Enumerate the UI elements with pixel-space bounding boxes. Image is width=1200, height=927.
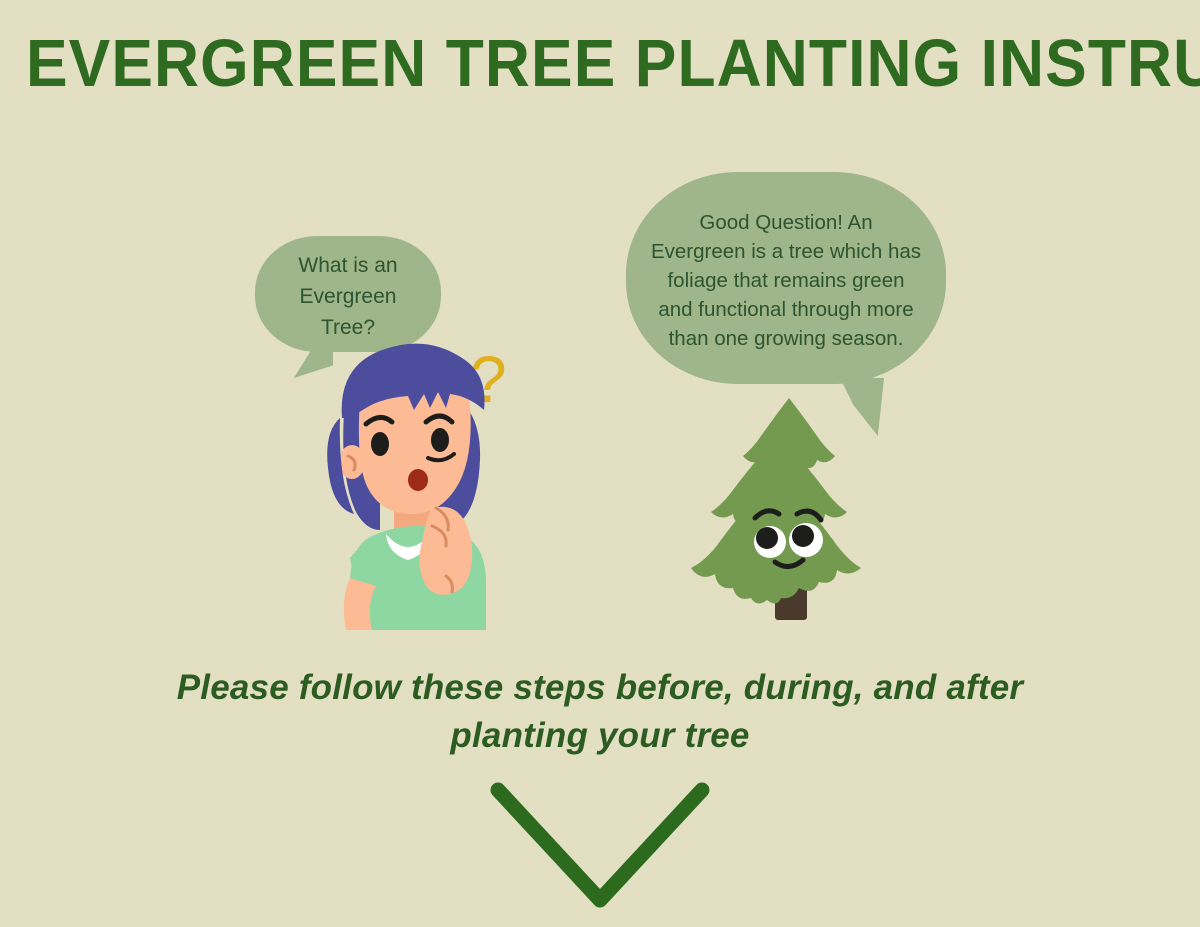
answer-line-4: and functional through more bbox=[651, 295, 921, 324]
subheading-line-2: planting your tree bbox=[450, 716, 749, 755]
page-title: EVERGREEN TREE PLANTING INSTRUCTIONS: bbox=[26, 26, 1068, 102]
speech-bubble-question-text: What is an Evergreen Tree? bbox=[298, 250, 397, 343]
question-line-3: Tree? bbox=[298, 312, 397, 343]
evergreen-tree-illustration bbox=[685, 390, 895, 630]
answer-line-5: than one growing season. bbox=[651, 324, 921, 353]
subheading: Please follow these steps before, during… bbox=[170, 664, 1030, 760]
answer-line-2: Evergreen is a tree which has bbox=[651, 237, 921, 266]
question-line-1: What is an bbox=[298, 250, 397, 281]
thinking-girl-illustration: ? bbox=[320, 340, 550, 630]
speech-bubble-answer-text: Good Question! An Evergreen is a tree wh… bbox=[651, 208, 921, 353]
answer-line-1: Good Question! An bbox=[651, 208, 921, 237]
question-line-2: Evergreen bbox=[298, 281, 397, 312]
chevron-down-arrow bbox=[480, 775, 720, 915]
speech-bubble-question: What is an Evergreen Tree? bbox=[255, 236, 441, 352]
chevron-down-icon bbox=[498, 790, 702, 900]
answer-line-3: foliage that remains green bbox=[651, 266, 921, 295]
subheading-line-1: Please follow these steps before, during… bbox=[177, 668, 1024, 707]
poster-canvas: EVERGREEN TREE PLANTING INSTRUCTIONS: Wh… bbox=[0, 0, 1200, 927]
speech-bubble-answer: Good Question! An Evergreen is a tree wh… bbox=[626, 172, 946, 384]
